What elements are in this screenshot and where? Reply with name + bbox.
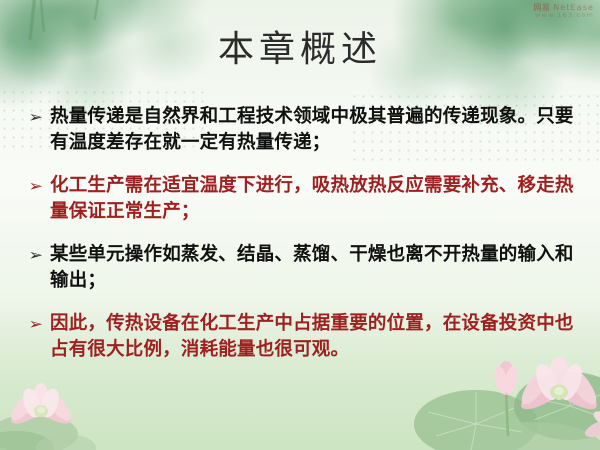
list-item-text: 化工生产需在适宜温度下进行，吸热放热反应需要补充、移走热量保证正常生产； <box>50 173 582 225</box>
list-item: ➢ 化工生产需在适宜温度下进行，吸热放热反应需要补充、移走热量保证正常生产； <box>30 173 582 225</box>
lotus-flower-icon <box>0 356 144 450</box>
slide-title: 本章概述 <box>0 28 600 72</box>
watermark-url: www.163.com <box>533 12 594 19</box>
list-item-text: 某些单元操作如蒸发、结晶、蒸馏、干燥也离不开热量的输入和输出； <box>50 242 582 294</box>
netease-watermark: 网易 NetEase www.163.com <box>533 3 594 20</box>
arrow-bullet-icon: ➢ <box>29 173 52 199</box>
list-item-text: 热量传递是自然界和工程技术领域中极其普遍的传递现象。只要有温度差存在就一定有热量… <box>50 104 582 156</box>
arrow-bullet-icon: ➢ <box>29 104 52 130</box>
bullet-list: ➢ 热量传递是自然界和工程技术领域中极其普遍的传递现象。只要有温度差存在就一定有… <box>30 104 582 363</box>
arrow-bullet-icon: ➢ <box>29 242 52 268</box>
list-item-text: 因此，传热设备在化工生产中占据重要的位置，在设备投资中也占有很大比例，消耗能量也… <box>50 311 582 363</box>
list-item: ➢ 某些单元操作如蒸发、结晶、蒸馏、干燥也离不开热量的输入和输出； <box>30 242 582 294</box>
arrow-bullet-icon: ➢ <box>29 311 52 337</box>
lotus-decoration-bottom-left <box>0 356 144 450</box>
list-item: ➢ 因此，传热设备在化工生产中占据重要的位置，在设备投资中也占有很大比例，消耗能… <box>30 311 582 363</box>
list-item: ➢ 热量传递是自然界和工程技术领域中极其普遍的传递现象。只要有温度差存在就一定有… <box>30 104 582 156</box>
presentation-slide: 网易 NetEase www.163.com 本章概述 ➢ 热量传递是自然界和工… <box>0 0 600 450</box>
